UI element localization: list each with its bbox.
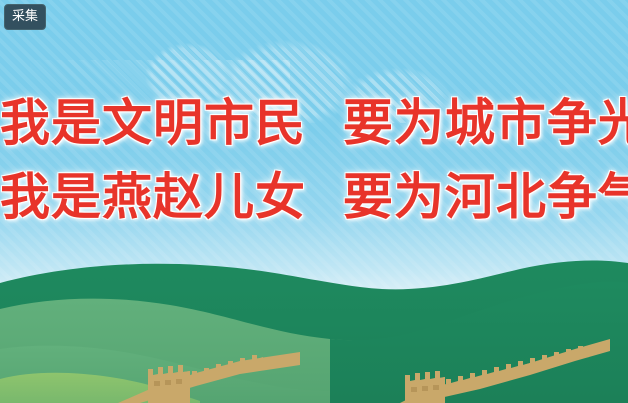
capture-button[interactable]: 采集: [4, 4, 46, 30]
landscape-svg: [0, 253, 628, 403]
slogan-line-1: 我是文明市民 要为城市争光: [0, 86, 628, 160]
banner-image: 我是文明市民 要为城市争光 我是燕赵儿女 要为河北争气: [0, 0, 628, 403]
slogan-block: 我是文明市民 要为城市争光 我是燕赵儿女 要为河北争气: [0, 86, 628, 234]
slogan-line-2: 我是燕赵儿女 要为河北争气: [0, 160, 628, 234]
landscape-illustration: [0, 253, 628, 403]
